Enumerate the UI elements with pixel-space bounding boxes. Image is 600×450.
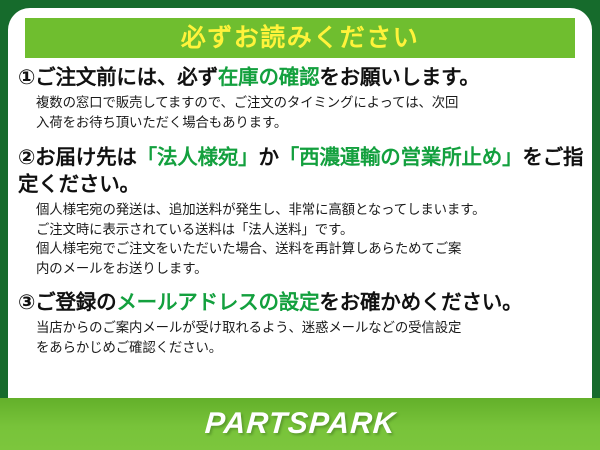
notice-item-2-heading-highlight-1: 「法人様宛」: [137, 146, 259, 169]
notice-item-2-body: 個人様宅宛の発送は、追加送料が発生し、非常に高額となってしまいます。 ご注文時に…: [36, 200, 584, 279]
notice-item-3-body-line-2: をあらかじめご確認ください。: [36, 338, 584, 358]
brand-logo: PARTSPARK: [203, 407, 396, 441]
inner-panel: 必ずお読みください ①ご注文前には、必ず在庫の確認をお願いします。 複数の窓口で…: [8, 8, 592, 442]
notice-item-2-body-line-2: ご注文時に表示されている送料は「法人送料」です。: [36, 220, 584, 240]
notice-item-1-heading-part-3: をお願いします。: [319, 66, 479, 89]
notice-item-1-heading-highlight: 在庫の確認: [218, 66, 320, 89]
notice-item-1-heading: ①ご注文前には、必ず在庫の確認をお願いします。: [18, 64, 584, 91]
notice-item-2-body-line-1: 個人様宅宛の発送は、追加送料が発生し、非常に高額となってしまいます。: [36, 200, 584, 220]
notice-item-1-marker: ①: [18, 66, 35, 89]
notice-item-3-heading: ③ご登録のメールアドレスの設定をお確かめください。: [18, 289, 584, 316]
notice-item-2-body-line-3: 個人様宅宛でご注文をいただいた場合、送料を再計算しあらためてご案: [36, 239, 584, 259]
notice-item-3-marker: ③: [18, 291, 35, 314]
page-title: 必ずお読みください: [181, 26, 420, 51]
footer-bar: PARTSPARK: [0, 398, 600, 450]
notice-item-3-body: 当店からのご案内メールが受け取れるよう、迷惑メールなどの受信設定 をあらかじめご…: [36, 318, 584, 358]
notice-item-3-heading-part-3: をお確かめください。: [319, 291, 522, 314]
notice-item-2-body-line-4: 内のメールをお送りします。: [36, 259, 584, 279]
header-bar: 必ずお読みください: [25, 18, 575, 58]
notice-item-1-body: 複数の窓口で販売してますので、ご注文のタイミングによっては、次回 入荷をお待ち頂…: [36, 93, 584, 133]
notice-item-2-heading-highlight-2: 「西濃運輸の営業所止め」: [279, 146, 523, 169]
notice-item-3-heading-part-1: ご登録の: [35, 291, 116, 314]
notice-item-3-body-line-1: 当店からのご案内メールが受け取れるよう、迷惑メールなどの受信設定: [36, 318, 584, 338]
notice-item-1-heading-part-1: ご注文前には、必ず: [35, 66, 218, 89]
notice-item-1: ①ご注文前には、必ず在庫の確認をお願いします。 複数の窓口で販売してますので、ご…: [18, 64, 584, 133]
notice-body: ①ご注文前には、必ず在庫の確認をお願いします。 複数の窓口で販売してますので、ご…: [8, 64, 592, 398]
notice-item-2: ②お届け先は「法人様宛」か「西濃運輸の営業所止め」をご指定ください。 個人様宅宛…: [18, 144, 584, 279]
notice-item-2-heading: ②お届け先は「法人様宛」か「西濃運輸の営業所止め」をご指定ください。: [18, 144, 584, 198]
notice-item-3-heading-highlight: メールアドレスの設定: [116, 291, 319, 314]
notice-item-1-body-line-1: 複数の窓口で販売してますので、ご注文のタイミングによっては、次回: [36, 93, 584, 113]
notice-item-3: ③ご登録のメールアドレスの設定をお確かめください。 当店からのご案内メールが受け…: [18, 289, 584, 358]
notice-item-2-marker: ②: [18, 146, 35, 169]
notice-item-2-heading-part-1: お届け先は: [35, 146, 137, 169]
notice-card: 必ずお読みください ①ご注文前には、必ず在庫の確認をお願いします。 複数の窓口で…: [0, 0, 600, 450]
notice-item-1-body-line-2: 入荷をお待ち頂いただく場合もあります。: [36, 113, 584, 133]
notice-item-2-heading-part-3: か: [258, 146, 278, 169]
